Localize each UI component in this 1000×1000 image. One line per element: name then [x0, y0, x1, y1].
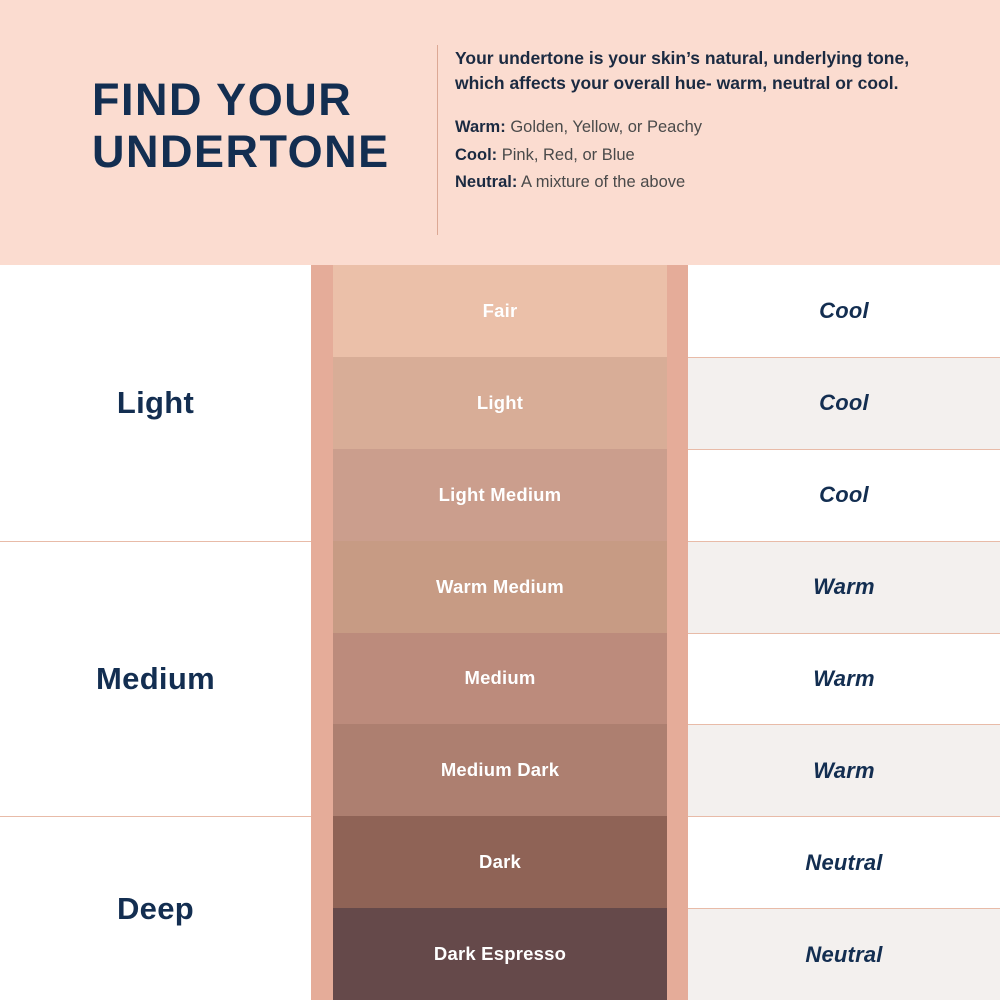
page-title: FIND YOUR UNDERTONE — [92, 74, 422, 178]
definition-neutral-label: Neutral: — [455, 173, 517, 191]
depth-label-deep: Deep — [117, 891, 194, 927]
undertone-row: Warm — [688, 541, 1000, 633]
swatch-label: Fair — [483, 300, 518, 322]
undertone-row: Neutral — [688, 908, 1000, 1000]
swatch-column: Fair Light Light Medium Warm Medium Medi… — [333, 265, 667, 1000]
intro-paragraph: Your undertone is your skin’s natural, u… — [455, 46, 925, 96]
swatch-label: Dark Espresso — [434, 943, 566, 965]
undertone-value: Cool — [819, 390, 869, 416]
undertone-column: Cool Cool Cool Warm Warm Warm Neutral Ne… — [688, 265, 1000, 1000]
swatch-label: Medium — [464, 667, 535, 689]
depth-label-medium: Medium — [96, 661, 215, 697]
undertone-infographic: FIND YOUR UNDERTONE Your undertone is yo… — [0, 0, 1000, 1000]
undertone-value: Warm — [813, 758, 875, 784]
swatch-row[interactable]: Medium — [333, 633, 667, 725]
undertone-row: Cool — [688, 357, 1000, 449]
definition-warm: Warm: Golden, Yellow, or Peachy — [455, 114, 925, 142]
swatch-row[interactable]: Light — [333, 357, 667, 449]
undertone-value: Cool — [819, 482, 869, 508]
definition-neutral: Neutral: A mixture of the above — [455, 169, 925, 197]
undertone-row: Cool — [688, 449, 1000, 541]
definition-warm-label: Warm: — [455, 118, 506, 136]
definition-cool-value: Pink, Red, or Blue — [497, 146, 635, 164]
swatch-row[interactable]: Warm Medium — [333, 541, 667, 633]
swatch-row[interactable]: Medium Dark — [333, 724, 667, 816]
undertone-row: Cool — [688, 265, 1000, 357]
swatch-row[interactable]: Fair — [333, 265, 667, 357]
shade-matrix: Light Medium Deep Fair Light Light Mediu… — [0, 265, 1000, 1000]
undertone-value: Neutral — [805, 942, 882, 968]
undertone-value: Warm — [813, 574, 875, 600]
swatch-label: Medium Dark — [441, 759, 559, 781]
swatch-row[interactable]: Light Medium — [333, 449, 667, 541]
swatch-label: Light Medium — [439, 484, 562, 506]
undertone-value: Warm — [813, 666, 875, 692]
swatch-rail: Fair Light Light Medium Warm Medium Medi… — [311, 265, 688, 1000]
header-banner: FIND YOUR UNDERTONE Your undertone is yo… — [0, 0, 1000, 265]
header-vertical-divider — [437, 45, 438, 235]
depth-group-deep: Deep — [0, 816, 311, 1000]
swatch-label: Dark — [479, 851, 521, 873]
undertone-value: Neutral — [805, 850, 882, 876]
undertone-row: Warm — [688, 724, 1000, 816]
undertone-row: Neutral — [688, 816, 1000, 908]
definition-cool: Cool: Pink, Red, or Blue — [455, 142, 925, 170]
swatch-row[interactable]: Dark Espresso — [333, 908, 667, 1000]
undertone-value: Cool — [819, 298, 869, 324]
depth-column: Light Medium Deep — [0, 265, 311, 1000]
swatch-row[interactable]: Dark — [333, 816, 667, 908]
definition-neutral-value: A mixture of the above — [517, 173, 685, 191]
definition-warm-value: Golden, Yellow, or Peachy — [506, 118, 702, 136]
depth-group-light: Light — [0, 265, 311, 541]
depth-label-light: Light — [117, 385, 194, 421]
swatch-label: Light — [477, 392, 523, 414]
header-description-block: Your undertone is your skin’s natural, u… — [455, 46, 925, 197]
definition-cool-label: Cool: — [455, 146, 497, 164]
depth-group-medium: Medium — [0, 541, 311, 817]
undertone-row: Warm — [688, 633, 1000, 725]
swatch-label: Warm Medium — [436, 576, 564, 598]
